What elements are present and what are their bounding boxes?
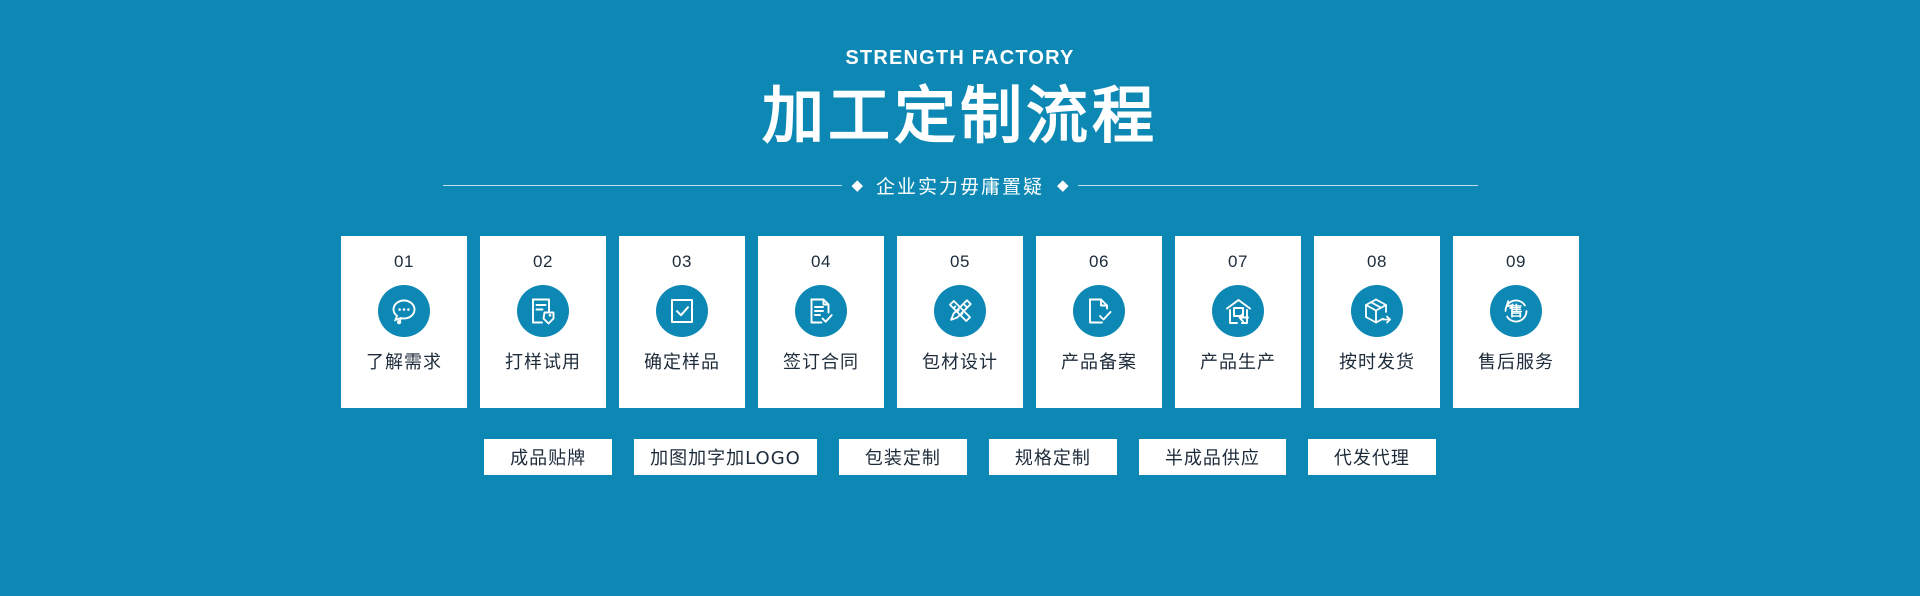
tag-label: 规格定制 — [1015, 444, 1091, 470]
document-tag-icon — [517, 285, 569, 337]
divider-line-right — [1078, 185, 1478, 186]
box-arrow-icon — [1351, 285, 1403, 337]
process-steps-row: 01 了解需求 02 — [341, 236, 1579, 408]
contract-check-icon — [795, 285, 847, 337]
step-card-03[interactable]: 03 确定样品 — [619, 236, 745, 408]
after-sales-icon: 售 — [1490, 285, 1542, 337]
tag-packaging-custom[interactable]: 包装定制 — [839, 439, 967, 475]
checkbox-icon — [656, 285, 708, 337]
tag-spec-custom[interactable]: 规格定制 — [989, 439, 1117, 475]
step-number: 09 — [1506, 253, 1526, 270]
step-label: 确定样品 — [644, 354, 720, 372]
pencil-ruler-icon — [934, 285, 986, 337]
step-number: 02 — [533, 253, 553, 270]
diamond-left-icon: ◆ — [842, 178, 872, 193]
step-number: 04 — [811, 253, 831, 270]
step-number: 06 — [1089, 253, 1109, 270]
step-number: 08 — [1367, 253, 1387, 270]
tag-label: 半成品供应 — [1165, 444, 1260, 470]
banner-eyebrow: STRENGTH FACTORY — [845, 48, 1074, 68]
divider-line-left — [443, 185, 843, 186]
tag-dropshipping[interactable]: 代发代理 — [1308, 439, 1436, 475]
tag-finished-product-oem[interactable]: 成品贴牌 — [484, 439, 612, 475]
step-card-04[interactable]: 04 签订合同 — [758, 236, 884, 408]
chat-bubble-icon — [378, 285, 430, 337]
step-label: 产品生产 — [1200, 354, 1276, 372]
tag-label: 包装定制 — [865, 444, 941, 470]
tag-label: 加图加字加LOGO — [650, 444, 801, 470]
step-label: 按时发货 — [1339, 354, 1415, 372]
step-label: 打样试用 — [505, 354, 581, 372]
step-label: 售后服务 — [1478, 354, 1554, 372]
promo-banner: STRENGTH FACTORY 加工定制流程 ◆ 企业实力毋庸置疑 ◆ 01 — [0, 0, 1920, 596]
tag-add-logo[interactable]: 加图加字加LOGO — [634, 439, 817, 475]
step-card-06[interactable]: 06 产品备案 — [1036, 236, 1162, 408]
diamond-right-icon: ◆ — [1048, 178, 1078, 193]
file-check-icon — [1073, 285, 1125, 337]
banner-subtitle: 企业实力毋庸置疑 — [872, 172, 1048, 199]
subtitle-divider: ◆ 企业实力毋庸置疑 ◆ — [443, 172, 1478, 199]
factory-arrow-icon — [1212, 285, 1264, 337]
service-tags-row: 成品贴牌 加图加字加LOGO 包装定制 规格定制 半成品供应 代发代理 — [484, 439, 1436, 475]
after-sales-char: 售 — [1508, 303, 1523, 320]
step-label: 了解需求 — [366, 354, 442, 372]
step-label: 包材设计 — [922, 354, 998, 372]
step-card-05[interactable]: 05 包材设计 — [897, 236, 1023, 408]
step-number: 01 — [394, 253, 414, 270]
step-number: 05 — [950, 253, 970, 270]
step-label: 签订合同 — [783, 354, 859, 372]
step-card-01[interactable]: 01 了解需求 — [341, 236, 467, 408]
page-title: 加工定制流程 — [762, 82, 1158, 150]
step-number: 07 — [1228, 253, 1248, 270]
step-number: 03 — [672, 253, 692, 270]
tag-label: 代发代理 — [1334, 444, 1410, 470]
tag-label: 成品贴牌 — [510, 444, 586, 470]
banner-header: STRENGTH FACTORY 加工定制流程 ◆ 企业实力毋庸置疑 ◆ — [0, 0, 1920, 199]
step-card-07[interactable]: 07 产品生产 — [1175, 236, 1301, 408]
step-card-09[interactable]: 09 售 售后服务 — [1453, 236, 1579, 408]
tag-semi-finished-supply[interactable]: 半成品供应 — [1139, 439, 1286, 475]
step-label: 产品备案 — [1061, 354, 1137, 372]
step-card-08[interactable]: 08 按时发货 — [1314, 236, 1440, 408]
step-card-02[interactable]: 02 打样试用 — [480, 236, 606, 408]
